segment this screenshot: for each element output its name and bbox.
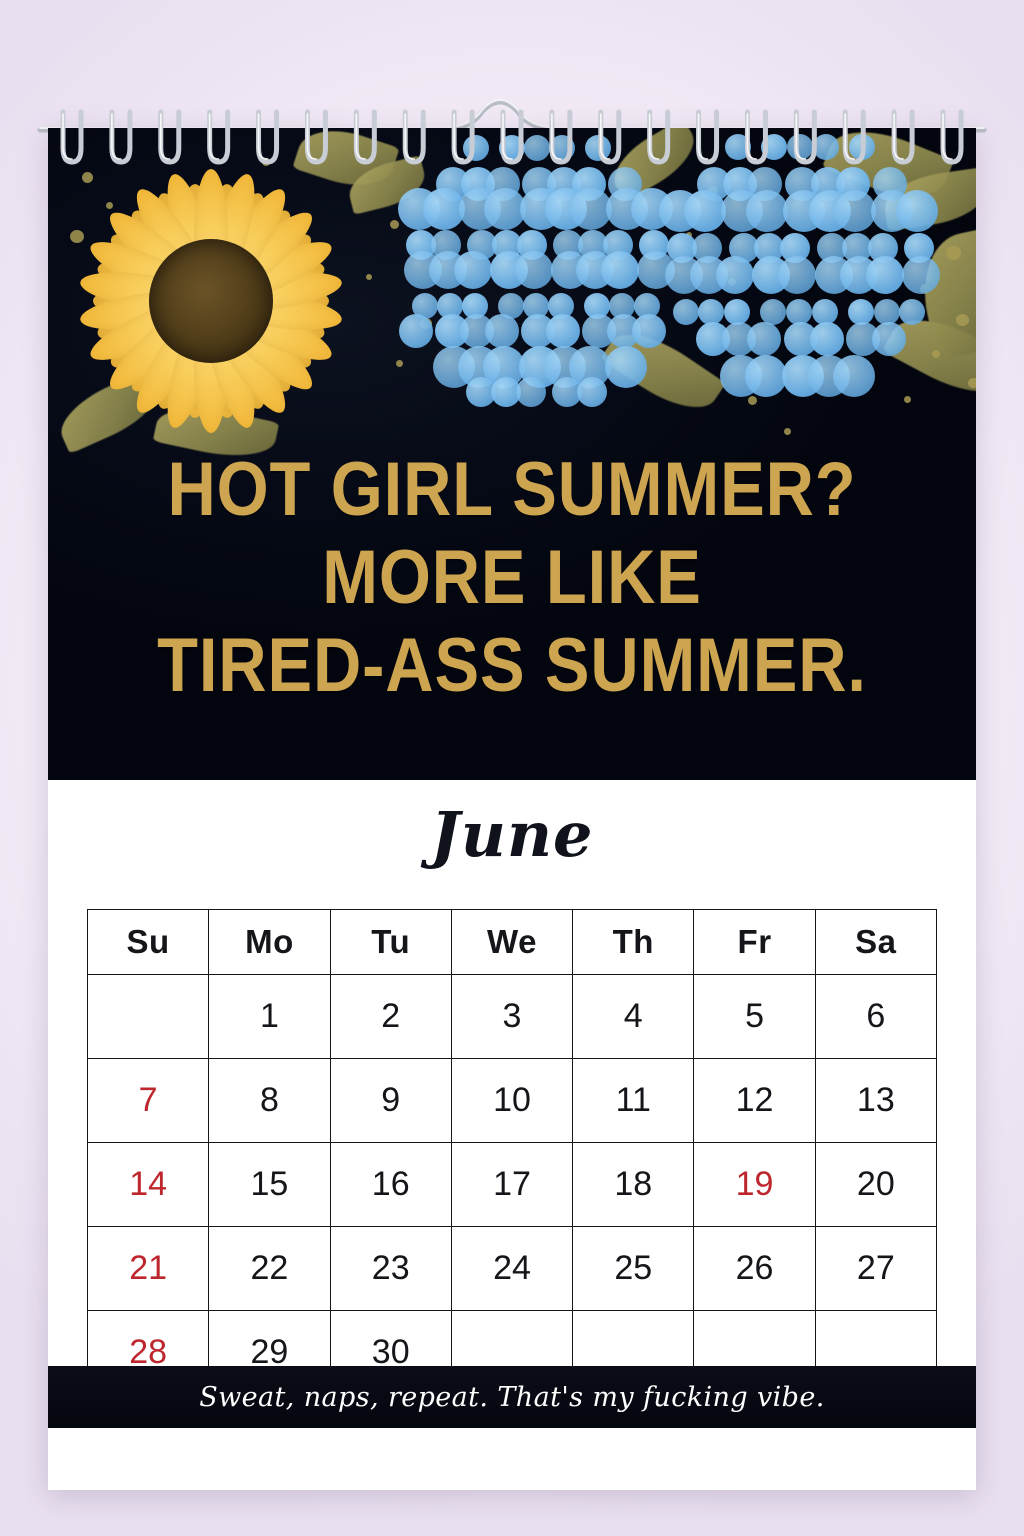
hydrangea-floret [399, 314, 433, 348]
calendar-day-cell[interactable]: 5 [694, 975, 815, 1059]
weekday-header-we: We [451, 910, 572, 975]
hydrangea-floret [833, 355, 875, 397]
headline-line-3: TIRED-ASS SUMMER. [104, 622, 921, 710]
calendar-day-cell[interactable]: 21 [88, 1227, 209, 1311]
hydrangea-floret [899, 299, 925, 325]
art-panel: HOT GIRL SUMMER? MORE LIKE TIRED-ASS SUM… [48, 128, 976, 780]
hydrangea-floret [632, 314, 666, 348]
calendar-day-cell[interactable]: 25 [573, 1227, 694, 1311]
weekday-header-su: Su [88, 910, 209, 975]
hydrangea-floret [778, 256, 816, 294]
calendar-day-cell[interactable]: 10 [451, 1059, 572, 1143]
calendar-day-cell[interactable]: 22 [209, 1227, 330, 1311]
hydrangea-floret [546, 314, 580, 348]
hydrangea-floret [516, 377, 546, 407]
hydrangea-floret [872, 322, 906, 356]
hydrangea-floret [747, 322, 781, 356]
weekday-header-fr: Fr [694, 910, 815, 975]
calendar-day-cell[interactable]: 26 [694, 1227, 815, 1311]
hydrangea-right-icon [666, 136, 932, 388]
headline-line-2: MORE LIKE [104, 534, 921, 622]
hydrangea-floret [866, 256, 904, 294]
hydrangea-floret [524, 135, 550, 161]
calendar-grid: Su Mo Tu We Th Fr Sa 1234567891011121314… [87, 909, 937, 1395]
sunflower-center [149, 239, 273, 363]
hydrangea-floret [902, 256, 940, 294]
calendar-card: HOT GIRL SUMMER? MORE LIKE TIRED-ASS SUM… [48, 128, 976, 1490]
gold-speck [968, 378, 976, 388]
weekday-header-row: Su Mo Tu We Th Fr Sa [88, 910, 937, 975]
hydrangea-floret [787, 134, 813, 160]
calendar-week-row: 123456 [88, 975, 937, 1059]
calendar-day-cell[interactable]: 3 [451, 975, 572, 1059]
calendar-day-cell[interactable]: 12 [694, 1059, 815, 1143]
calendar-day-cell[interactable]: 2 [330, 975, 451, 1059]
gold-speck [946, 246, 961, 260]
calendar-day-cell[interactable]: 24 [451, 1227, 572, 1311]
hydrangea-floret [605, 346, 647, 388]
calendar-day-cell[interactable]: 16 [330, 1143, 451, 1227]
hydrangea-floret [585, 135, 611, 161]
hydrangea-floret [601, 251, 639, 289]
calendar-day-cell[interactable]: 9 [330, 1059, 451, 1143]
weekday-header-tu: Tu [330, 910, 451, 975]
calendar-week-row: 14151617181920 [88, 1143, 937, 1227]
hydrangea-floret [673, 299, 699, 325]
calendar-day-cell[interactable]: 19 [694, 1143, 815, 1227]
hydrangea-floret [485, 314, 519, 348]
calendar-empty-cell [88, 975, 209, 1059]
calendar-day-cell[interactable]: 6 [815, 975, 936, 1059]
hydrangea-floret [463, 135, 489, 161]
gold-speck [396, 360, 403, 367]
hydrangea-floret [810, 322, 844, 356]
gold-speck [956, 314, 969, 326]
calendar-day-cell[interactable]: 14 [88, 1143, 209, 1227]
gold-speck [932, 350, 940, 358]
hydrangea-left-icon [406, 138, 666, 408]
hydrangea-floret [499, 135, 525, 161]
month-title: June [48, 780, 976, 871]
gold-speck [366, 274, 372, 280]
hydrangea-floret [813, 134, 839, 160]
hydrangea-floret [716, 256, 754, 294]
gold-speck [904, 396, 911, 403]
calendar-body: 1234567891011121314151617181920212223242… [88, 975, 937, 1395]
headline-line-1: HOT GIRL SUMMER? [104, 446, 921, 534]
hydrangea-floret [761, 134, 787, 160]
calendar-day-cell[interactable]: 4 [573, 975, 694, 1059]
headline-text: HOT GIRL SUMMER? MORE LIKE TIRED-ASS SUM… [104, 446, 921, 710]
calendar-day-cell[interactable]: 20 [815, 1143, 936, 1227]
hydrangea-floret [577, 377, 607, 407]
calendar-day-cell[interactable]: 8 [209, 1059, 330, 1143]
hydrangea-floret [834, 190, 876, 232]
calendar-day-cell[interactable]: 15 [209, 1143, 330, 1227]
calendar-day-cell[interactable]: 17 [451, 1143, 572, 1227]
hydrangea-floret [849, 134, 875, 160]
calendar-day-cell[interactable]: 18 [573, 1143, 694, 1227]
footer-caption: Sweat, naps, repeat. That's my fucking v… [199, 1382, 824, 1413]
calendar-day-cell[interactable]: 1 [209, 975, 330, 1059]
calendar-day-cell[interactable]: 23 [330, 1227, 451, 1311]
calendar-day-cell[interactable]: 27 [815, 1227, 936, 1311]
weekday-header-th: Th [573, 910, 694, 975]
hydrangea-floret [549, 135, 575, 161]
gold-speck [784, 428, 791, 435]
calendar-day-cell[interactable]: 13 [815, 1059, 936, 1143]
weekday-header-sa: Sa [815, 910, 936, 975]
hydrangea-floret [896, 190, 938, 232]
weekday-header-mo: Mo [209, 910, 330, 975]
gold-speck [390, 220, 399, 229]
calendar-week-row: 21222324252627 [88, 1227, 937, 1311]
calendar-day-cell[interactable]: 11 [573, 1059, 694, 1143]
sunflower-icon [66, 156, 356, 446]
footer-band: Sweat, naps, repeat. That's my fucking v… [48, 1366, 976, 1428]
gold-speck [748, 396, 757, 405]
month-section: June Su Mo Tu We Th Fr Sa 12345678910111… [48, 780, 976, 1428]
hydrangea-floret [454, 251, 492, 289]
calendar-week-row: 78910111213 [88, 1059, 937, 1143]
hydrangea-floret [725, 134, 751, 160]
calendar-day-cell[interactable]: 7 [88, 1059, 209, 1143]
hydrangea-floret [515, 251, 553, 289]
